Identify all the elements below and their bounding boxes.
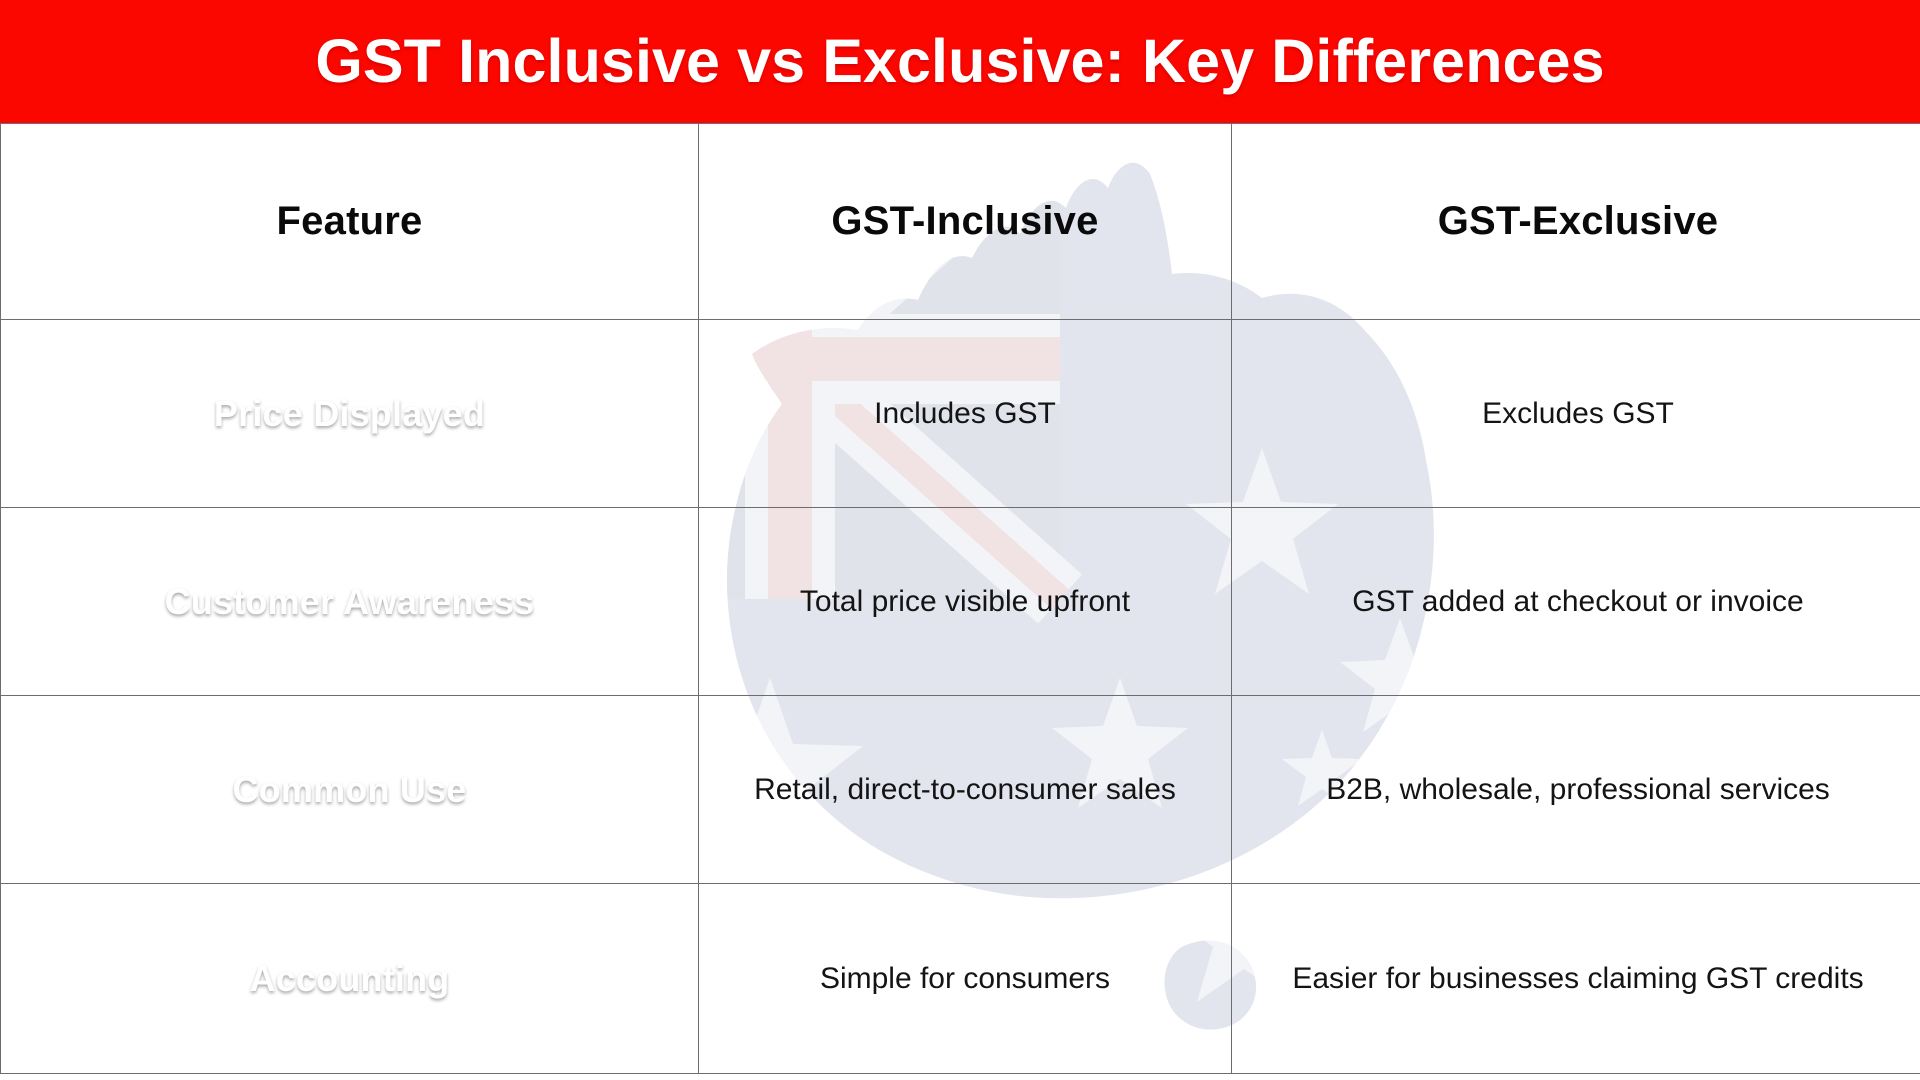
row-exclusive-value: Excludes GST [1232,320,1920,508]
row-inclusive-value: Retail, direct-to-consumer sales [699,696,1232,884]
table-row: Price Displayed Includes GST Excludes GS… [1,320,1920,508]
poster-canvas: GST Inclusive vs Exclusive: Key Differen… [0,0,1920,1080]
row-inclusive-value: Simple for consumers [699,884,1232,1074]
row-feature-label: Price Displayed [1,320,699,508]
row-feature-label: Common Use [1,696,699,884]
table-row: Common Use Retail, direct-to-consumer sa… [1,696,1920,884]
row-inclusive-value: Includes GST [699,320,1232,508]
column-header-inclusive: GST-Inclusive [699,124,1232,320]
column-header-feature: Feature [1,124,699,320]
row-feature-label: Customer Awareness [1,508,699,696]
row-exclusive-value: B2B, wholesale, professional services [1232,696,1920,884]
column-header-exclusive: GST-Exclusive [1232,124,1920,320]
gst-comparison-table: Feature GST-Inclusive GST-Exclusive Pric… [0,123,1920,1074]
title-banner: GST Inclusive vs Exclusive: Key Differen… [0,0,1920,123]
page-title: GST Inclusive vs Exclusive: Key Differen… [315,31,1604,92]
row-exclusive-value: GST added at checkout or invoice [1232,508,1920,696]
row-inclusive-value: Total price visible upfront [699,508,1232,696]
table-row: Accounting Simple for consumers Easier f… [1,884,1920,1074]
table-body: Price Displayed Includes GST Excludes GS… [1,320,1920,1074]
row-exclusive-value: Easier for businesses claiming GST credi… [1232,884,1920,1074]
row-feature-label: Accounting [1,884,699,1074]
table-header-row: Feature GST-Inclusive GST-Exclusive [1,124,1920,320]
table-header: Feature GST-Inclusive GST-Exclusive [1,124,1920,320]
table-row: Customer Awareness Total price visible u… [1,508,1920,696]
